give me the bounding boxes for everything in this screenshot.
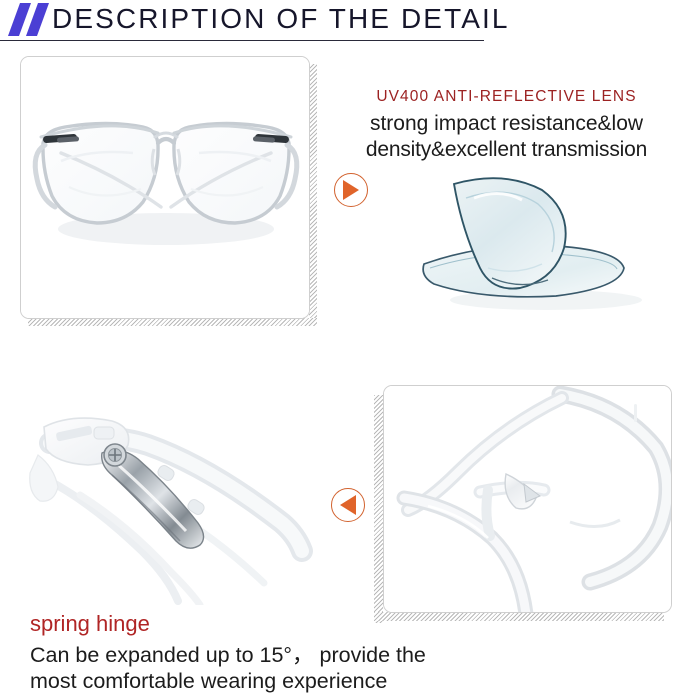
lens-heading: UV400 ANTI-REFLECTIVE LENS <box>334 86 679 108</box>
lens-body: strong impact resistance&low density&exc… <box>334 111 679 162</box>
hinge-body-line1: Can be expanded up to 15°， provide the <box>30 643 426 667</box>
glasses-photo-frame <box>20 56 310 319</box>
hinge-text-block: spring hinge Can be expanded up to 15°， … <box>30 610 550 694</box>
lens-text-block: UV400 ANTI-REFLECTIVE LENS strong impact… <box>334 86 679 162</box>
lens-body-line2: density&excellent transmission <box>334 137 679 163</box>
page-title: DESCRIPTION OF THE DETAIL <box>52 2 510 36</box>
hinge-photo <box>20 383 320 605</box>
arrow-left-icon <box>331 488 365 522</box>
frame-bridge-macro-image <box>384 386 672 613</box>
detail-description-infographic: DESCRIPTION OF THE DETAIL <box>0 0 679 697</box>
slash-accent-icon <box>10 3 54 37</box>
page-header: DESCRIPTION OF THE DETAIL <box>0 0 679 48</box>
panel-shadow-left <box>374 395 383 623</box>
lenses-photo <box>396 168 679 312</box>
hinge-body: Can be expanded up to 15°， provide the m… <box>30 642 550 694</box>
bridge-photo-frame <box>383 385 672 613</box>
bridge-photo-panel <box>383 385 672 613</box>
panel-shadow-bottom-2 <box>374 612 664 621</box>
clear-eyeglasses-image <box>21 57 310 319</box>
glasses-photo-panel <box>20 56 310 319</box>
panel-shadow-right <box>309 64 317 326</box>
hinge-body-line2: most comfortable wearing experience <box>30 668 550 694</box>
spring-hinge-image <box>20 383 320 605</box>
panel-shadow-bottom <box>28 318 317 326</box>
lens-body-line1: strong impact resistance&low <box>370 112 643 135</box>
header-divider <box>0 40 484 41</box>
two-lenses-image <box>396 168 679 312</box>
arrow-right-icon <box>334 173 368 207</box>
